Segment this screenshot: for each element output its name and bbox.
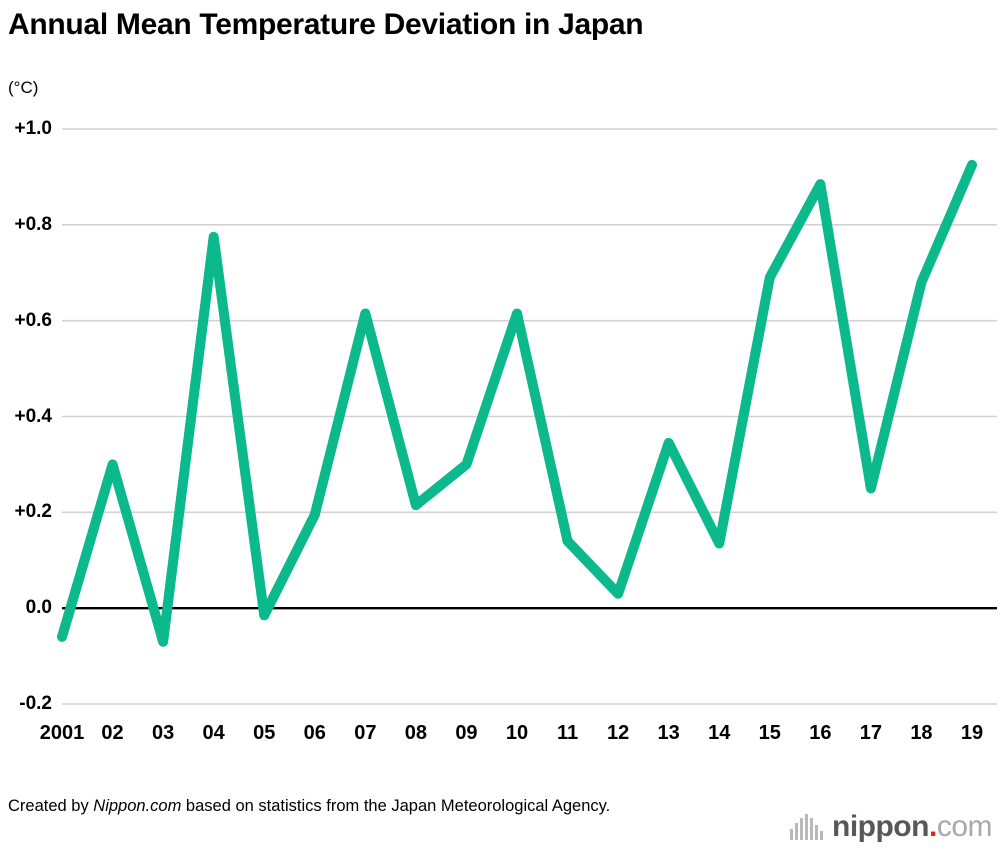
data-series-line [62,165,972,642]
y-axis-tick-label: +0.4 [0,407,52,426]
x-axis-tick-label: 07 [354,722,376,745]
sound-bars-icon [790,814,823,840]
nippon-logo[interactable]: nippon.com [790,812,992,842]
x-axis-tick-label: 12 [607,722,629,745]
x-axis-tick-label: 06 [304,722,326,745]
x-axis-tick-label: 11 [557,722,578,745]
y-axis-tick-label: 0.0 [0,598,52,617]
x-axis-tick-label: 15 [759,722,781,745]
x-axis-tick-label: 02 [101,722,123,745]
x-axis-tick-label: 04 [203,722,225,745]
chart-plot-area: +1.0+0.8+0.6+0.4+0.20.0-0.2 200102030405… [0,0,1000,770]
logo-wordmark: nippon.com [832,812,992,842]
x-axis-tick-label: 13 [658,722,680,745]
y-axis-tick-label: +0.8 [0,215,52,234]
x-axis-tick-label: 18 [910,722,932,745]
source-note: Created by Nippon.com based on statistic… [8,795,610,819]
source-note-prefix: Created by [8,797,93,815]
y-axis-tick-label: +0.6 [0,311,52,330]
x-axis-tick-label: 03 [152,722,174,745]
logo-dot: . [929,810,937,843]
x-axis-tick-label: 08 [405,722,427,745]
x-axis-tick-label: 17 [860,722,882,745]
y-axis-tick-label: +0.2 [0,502,52,521]
x-axis-tick-label: 16 [809,722,831,745]
x-axis-tick-label: 09 [455,722,477,745]
y-axis-tick-label: -0.2 [0,694,52,713]
x-axis-tick-label: 2001 [40,722,85,745]
logo-tld: com [937,810,992,843]
x-axis-tick-label: 14 [708,722,730,745]
logo-name: nippon [832,810,929,843]
x-axis-tick-label: 10 [506,722,528,745]
line-chart-svg [0,0,1000,770]
x-axis-tick-label: 05 [253,722,275,745]
source-note-emphasis: Nippon.com [93,797,181,815]
x-axis-tick-label: 19 [961,722,983,745]
y-axis-tick-label: +1.0 [0,119,52,138]
source-note-suffix: based on statistics from the Japan Meteo… [181,797,610,815]
